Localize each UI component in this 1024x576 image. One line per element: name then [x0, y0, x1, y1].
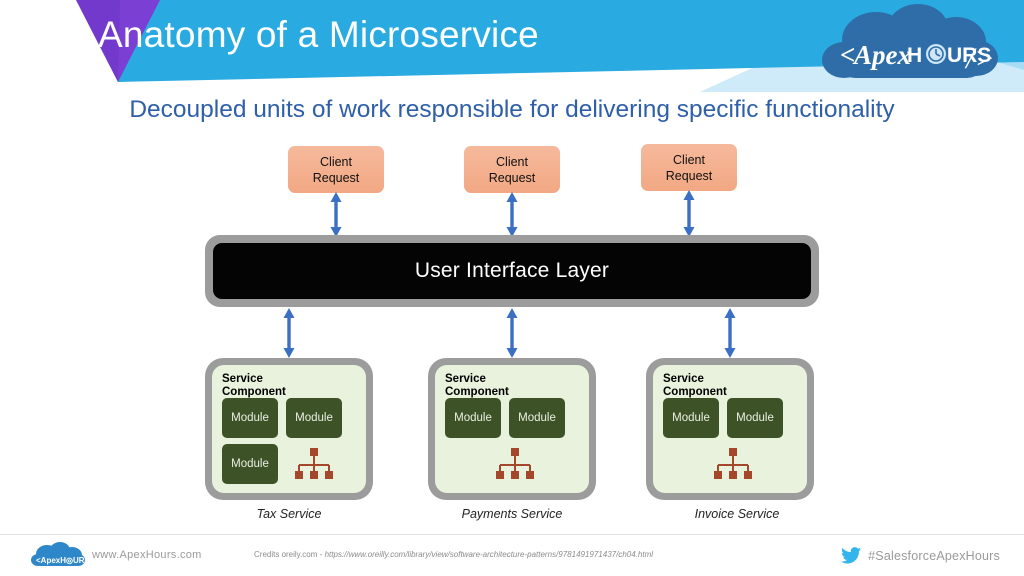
service-caption-tax: Tax Service — [189, 507, 389, 521]
user-interface-layer-inner: User Interface Layer — [213, 243, 811, 299]
client-request-line2: Request — [313, 170, 360, 186]
footer-bar: <ApexH◎URS/> www.ApexHours.com Credits o… — [0, 534, 1024, 576]
module-box: Module — [222, 444, 278, 484]
tree-slot-invoice — [663, 444, 803, 484]
arrow-client-to-ui-3 — [681, 190, 697, 237]
service-box-tax: Service Component Module Module Module — [205, 358, 373, 500]
client-request-line1: Client — [320, 154, 352, 170]
slide-canvas: Anatomy of a Microservice < Apex H URS /… — [0, 0, 1024, 576]
module-box: Module — [286, 398, 342, 438]
arrow-client-to-ui-1 — [328, 192, 344, 237]
tree-slot-payments — [445, 444, 585, 484]
service-inner-tax: Service Component Module Module Module — [212, 365, 366, 493]
client-request-box-1: Client Request — [288, 146, 384, 193]
modules-grid-invoice: Module Module — [663, 398, 803, 438]
service-component-label-payments: Service Component — [445, 373, 580, 399]
footer-hashtag: #SalesforceApexHours — [868, 549, 1000, 563]
client-request-box-3: Client Request — [641, 144, 737, 191]
arrow-client-to-ui-2 — [504, 192, 520, 237]
twitter-icon — [841, 547, 861, 564]
module-box: Module — [509, 398, 565, 438]
client-request-line2: Request — [666, 168, 713, 184]
client-request-line2: Request — [489, 170, 536, 186]
module-box: Module — [663, 398, 719, 438]
modules-grid-payments: Module Module — [445, 398, 585, 438]
service-caption-payments: Payments Service — [412, 507, 612, 521]
logo-slash-bracket: /> — [964, 42, 995, 75]
hierarchy-tree-icon — [293, 448, 335, 480]
logo-apex-text: Apex — [852, 40, 911, 70]
client-request-box-2: Client Request — [464, 146, 560, 193]
user-interface-layer-label: User Interface Layer — [415, 259, 609, 283]
footer-apex-hours-logo[interactable]: <ApexH◎URS/> — [28, 542, 86, 570]
service-box-invoice: Service Component Module Module — [646, 358, 814, 500]
hierarchy-tree-icon — [494, 448, 536, 480]
footer-credits-url[interactable]: https://www.oreilly.com/library/view/sof… — [325, 550, 653, 559]
module-box: Module — [727, 398, 783, 438]
footer-credits-dash: - — [320, 550, 323, 559]
service-component-line1: Service — [222, 373, 357, 386]
arrow-ui-to-service-1 — [281, 308, 297, 358]
service-caption-invoice: Invoice Service — [637, 507, 837, 521]
modules-grid-tax: Module Module Module — [222, 398, 362, 484]
arrow-ui-to-service-3 — [722, 308, 738, 358]
module-box: Module — [222, 398, 278, 438]
service-component-label-tax: Service Component — [222, 373, 357, 399]
footer-credits: Credits oreily.com - https://www.oreilly… — [254, 550, 653, 559]
footer-twitter-group[interactable]: #SalesforceApexHours — [841, 547, 1000, 564]
client-request-line1: Client — [673, 152, 705, 168]
arrow-ui-to-service-2 — [504, 308, 520, 358]
service-box-payments: Service Component Module Module — [428, 358, 596, 500]
service-component-line1: Service — [663, 373, 798, 386]
footer-logo-text: <ApexH◎URS/> — [36, 556, 86, 565]
module-box: Module — [445, 398, 501, 438]
footer-website[interactable]: www.ApexHours.com — [92, 549, 202, 561]
service-component-line1: Service — [445, 373, 580, 386]
footer-credits-label: Credits oreily.com — [254, 550, 317, 559]
service-component-label-invoice: Service Component — [663, 373, 798, 399]
service-inner-payments: Service Component Module Module — [435, 365, 589, 493]
hierarchy-tree-icon — [712, 448, 754, 480]
apex-hours-logo[interactable]: < Apex H URS /> — [814, 2, 1004, 90]
client-request-line1: Client — [496, 154, 528, 170]
logo-hours-text: H — [907, 44, 922, 67]
service-inner-invoice: Service Component Module Module — [653, 365, 807, 493]
tree-slot-tax — [286, 444, 342, 484]
user-interface-layer: User Interface Layer — [205, 235, 819, 307]
page-title: Anatomy of a Microservice — [98, 14, 539, 56]
